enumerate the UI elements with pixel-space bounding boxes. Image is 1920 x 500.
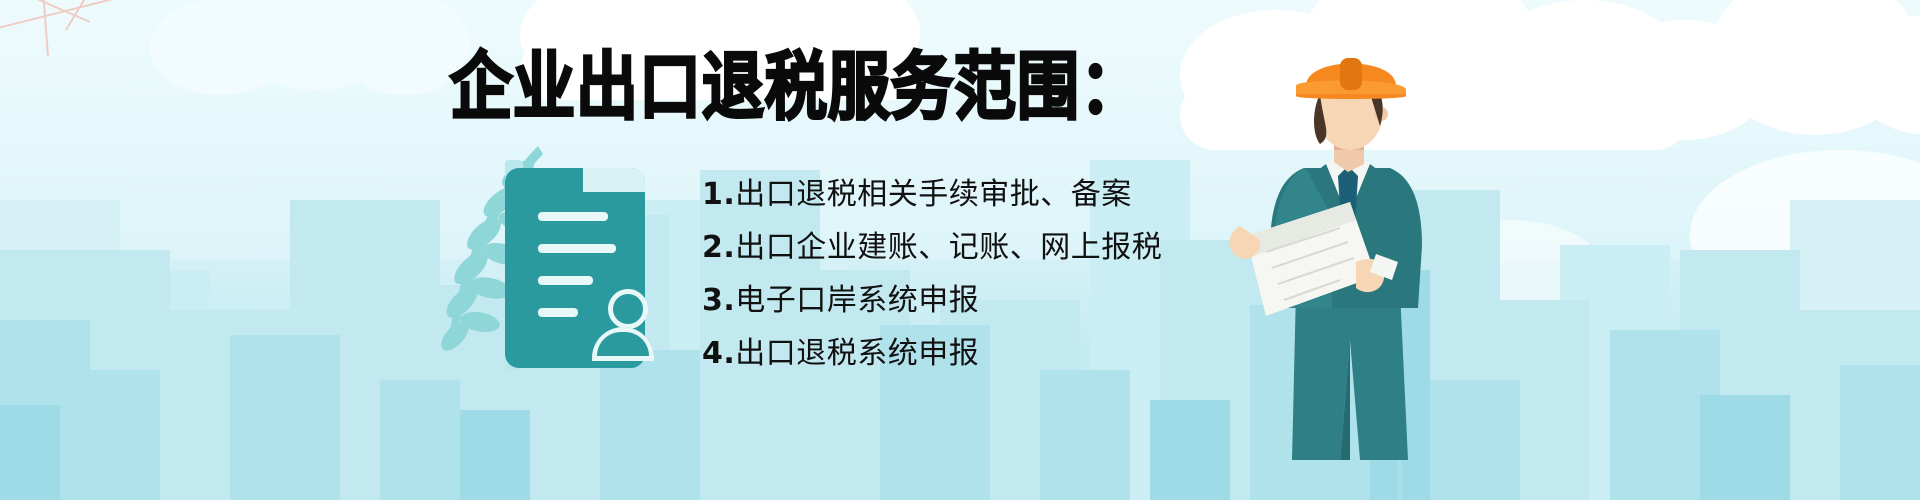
list-item-number: 1. (702, 177, 735, 212)
list-item-label: 出口企业建账、记账、网上报税 (735, 230, 1162, 265)
page-title: 企业出口退税服务范围： (450, 40, 1210, 134)
list-item-number: 3. (702, 283, 735, 318)
list-item-number: 2. (702, 230, 735, 265)
list-item-label: 出口退税相关手续审批、备案 (735, 177, 1132, 212)
export-tax-rebate-service-banner: 企业出口退税服务范围： 1.出口退税相关手续审批、备案 2.出口企业建账、记账、… (0, 0, 1920, 500)
list-item-label: 电子口岸系统申报 (735, 283, 979, 318)
businessman-with-hardhat-illustration (1200, 40, 1500, 460)
list-item-label: 出口退税系统申报 (735, 336, 979, 371)
list-item-number: 4. (702, 336, 735, 371)
